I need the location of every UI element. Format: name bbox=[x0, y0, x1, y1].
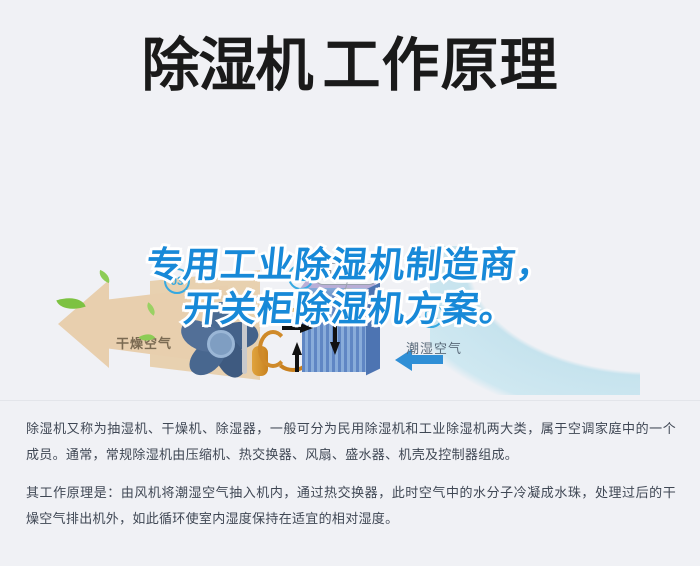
step-badge-01: 01 bbox=[418, 302, 444, 328]
section-divider bbox=[0, 400, 700, 401]
page-title-part-a: 除湿机 bbox=[141, 33, 312, 98]
refrigerant-pipe bbox=[242, 296, 247, 374]
page-title: 除湿机工作原理 bbox=[0, 30, 700, 102]
flow-arrow-down-icon bbox=[330, 342, 340, 355]
humid-air-label: 潮湿空气 bbox=[406, 338, 462, 357]
flow-arrow-up-icon bbox=[292, 342, 302, 355]
page-root: 除湿机工作原理 干燥空气 bbox=[0, 0, 700, 566]
diagram-illustration: 干燥空气 bbox=[0, 120, 700, 395]
page-title-part-b: 工作原理 bbox=[323, 33, 559, 98]
heat-exchanger-side bbox=[366, 283, 380, 376]
step-badge-02: 02 bbox=[288, 264, 314, 290]
callout-tip-icon bbox=[344, 288, 352, 294]
flow-arrow-bar bbox=[282, 326, 302, 330]
step-badge-03: 03 bbox=[164, 268, 190, 294]
fan-icon bbox=[175, 292, 261, 374]
humid-air-arc bbox=[430, 246, 640, 395]
leaf-icon bbox=[97, 270, 112, 283]
flow-arrow-right-icon bbox=[300, 323, 313, 333]
body-paragraph-1: 除湿机又称为抽湿机、干燥机、除湿器，一般可分为民用除湿机和工业除湿机两大类，属于… bbox=[26, 416, 676, 468]
body-paragraph-2: 其工作原理是：由风机将潮湿空气抽入机内，通过热交换器，此时空气中的水分子冷凝成水… bbox=[26, 480, 676, 532]
body-text: 除湿机又称为抽湿机、干燥机、除湿器，一般可分为民用除湿机和工业除湿机两大类，属于… bbox=[26, 416, 676, 544]
